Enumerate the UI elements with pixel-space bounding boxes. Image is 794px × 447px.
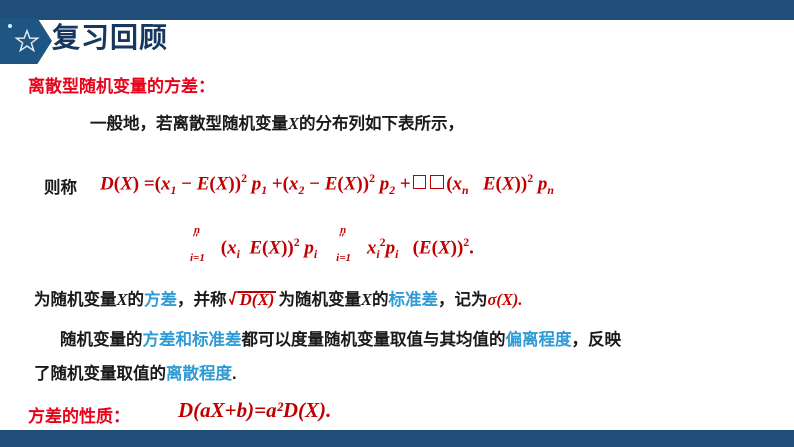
- explanation-text-3: ，反映: [572, 331, 622, 349]
- explanation-text-1: 随机变量的: [60, 331, 143, 349]
- section-heading: 离散型随机变量的方差：: [28, 72, 215, 97]
- definition-text-1: 为随机变量: [34, 291, 117, 309]
- term-standard-deviation: 标准差: [388, 291, 438, 309]
- definition-variable-2: X: [361, 290, 372, 309]
- property-formula: D(aX+b)=a²D(X).: [178, 398, 331, 423]
- property-formula-eq: =: [254, 398, 266, 422]
- intro-sentence: 一般地，若离散型随机变量X的分布列如下表所示，: [90, 110, 464, 134]
- sum2-lower-limit: i=1: [336, 252, 351, 264]
- variance-formula-line2: n ″ i=1 (xi E(X))2 pi n ″ i=1 xi2pi (E(X…: [190, 236, 474, 262]
- term-variance: 方差: [144, 291, 177, 309]
- badge-dot: [8, 24, 12, 28]
- missing-glyph-icon: [430, 175, 444, 189]
- term-variance-and-stddev: 方差和标准差: [143, 331, 242, 349]
- variance-formula-line1: D(X) =(x1 − E(X))2 p1 +(x2 − E(X))2 p2 +…: [100, 172, 554, 198]
- summation-symbol-1: n ″ i=1: [190, 239, 216, 258]
- property-formula-rhs: a²D(X): [266, 398, 326, 422]
- term-deviation-degree: 偏离程度: [506, 331, 572, 349]
- missing-glyph-icon: [413, 175, 427, 189]
- bottom-accent-bar: [0, 430, 794, 447]
- definition-text-6: ，记为: [438, 291, 488, 309]
- star-icon: [14, 28, 40, 54]
- explanation-line-1: 随机变量的方差和标准差都可以度量随机变量取值与其均值的偏离程度，反映: [60, 326, 621, 350]
- intro-variable: X: [288, 114, 299, 133]
- sum1-lower-limit: i=1: [190, 252, 205, 264]
- explanation-text-4: 了随机变量取值的: [34, 365, 166, 383]
- explanation-text-5: .: [232, 365, 237, 383]
- page-title: 复习回顾: [52, 16, 168, 56]
- summation-symbol-2: n ″ i=1: [336, 239, 362, 258]
- definition-text-5: 的: [372, 291, 389, 309]
- property-formula-lhs: D(aX+b): [178, 398, 254, 422]
- definition-text-3: ，并称: [177, 291, 227, 309]
- intro-text-after: 的分布列如下表所示，: [299, 115, 464, 133]
- property-label: 方差的性质：: [28, 402, 130, 427]
- definition-text-4: 为随机变量: [278, 291, 361, 309]
- intro-text-before: 一般地，若离散型随机变量: [90, 115, 288, 133]
- slide-canvas: 复习回顾 离散型随机变量的方差： 一般地，若离散型随机变量X的分布列如下表所示，…: [0, 0, 794, 447]
- formula-lhs: D: [100, 173, 114, 194]
- sigma-notation: σ(X).: [487, 290, 522, 309]
- definition-text-2: 的: [128, 291, 145, 309]
- explanation-text-2: 都可以度量随机变量取值与其均值的: [242, 331, 506, 349]
- definition-sentence: 为随机变量X的方差，并称D(X)为随机变量X的标准差，记为σ(X).: [34, 286, 523, 310]
- radical-content: D(X): [240, 290, 275, 309]
- definition-variable-1: X: [117, 290, 128, 309]
- explanation-line-2: 了随机变量取值的离散程度.: [34, 360, 237, 384]
- then-label: 则称: [44, 174, 77, 198]
- term-dispersion-degree: 离散程度: [166, 365, 232, 383]
- property-formula-period: .: [326, 398, 331, 422]
- sqrt-radical: D(X): [229, 289, 277, 310]
